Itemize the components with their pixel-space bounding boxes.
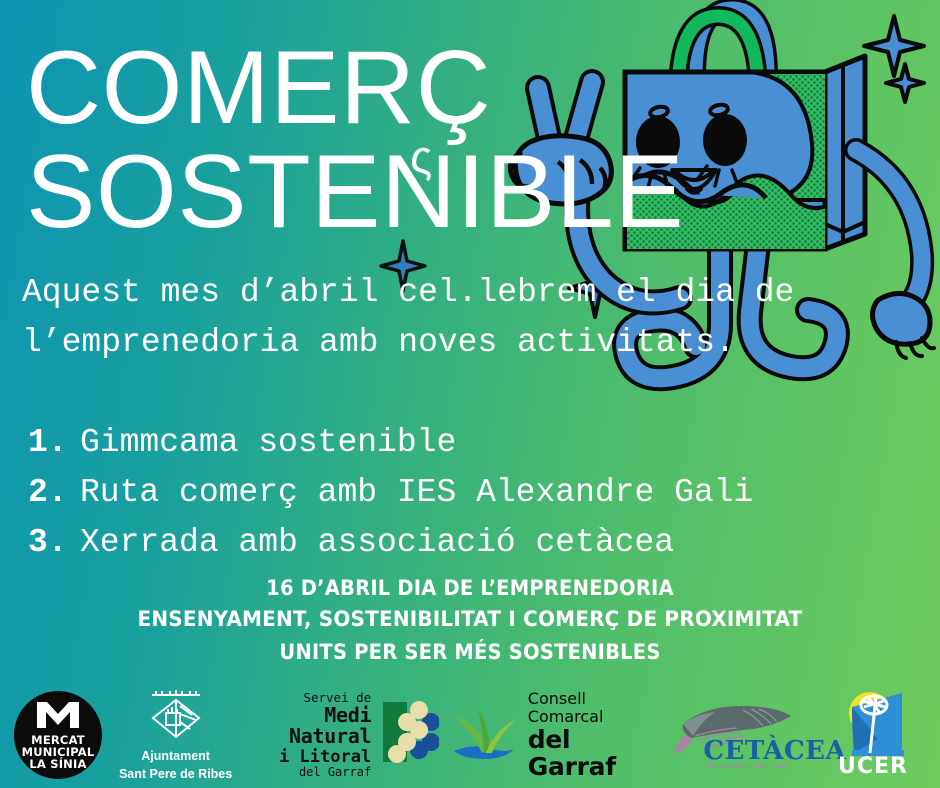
partner-logo-bar: MERCAT MUNICIPAL LA SÍNIA xyxy=(0,682,940,788)
slogan-block: 16 D’ABRIL DIA DE L’EMPRENEDORIA ENSENYA… xyxy=(0,572,940,668)
title-text-sostenible: SOSTENIBLE xyxy=(26,134,684,250)
ucer-wordmark: UCER xyxy=(838,754,908,779)
activities-list: 1. Gimmcama sostenible 2. Ruta comerç am… xyxy=(28,418,908,568)
list-item-number: 1. xyxy=(28,418,80,468)
consell-line-2: del Garraf xyxy=(528,726,663,780)
ajuntament-line-1: Ajuntament xyxy=(141,749,210,764)
list-item-label: Gimmcama sostenible xyxy=(80,418,456,468)
consell-text-block: Consell Comarcal del Garraf xyxy=(528,690,663,780)
logo-ajuntament-sant-pere-de-ribes: Ajuntament Sant Pere de Ribes xyxy=(111,689,241,782)
logo-cetacea: CETÀCEA defensem el medi marí xyxy=(671,692,811,778)
logo-servei-medi-natural-litoral: Servei de Medi Natural i Litoral del Gar… xyxy=(249,691,439,778)
sparkle-star-small-icon xyxy=(884,62,926,104)
ajuntament-line-2: Sant Pere de Ribes xyxy=(119,767,232,782)
logo-consell-comarcal-del-garraf: Consell Comarcal del Garraf xyxy=(448,690,663,780)
medi-line-4: del Garraf xyxy=(249,766,371,779)
cetacea-tagline: defensem el medi marí xyxy=(707,762,789,770)
list-item: 2. Ruta comerç amb IES Alexandre Gali xyxy=(28,468,908,518)
ajuntament-crest-icon xyxy=(144,689,208,746)
list-item-label: Xerrada amb associació cetàcea xyxy=(80,518,674,568)
consell-line-1: Consell Comarcal xyxy=(528,690,663,726)
medi-line-3: i Litoral xyxy=(249,748,371,766)
mercat-line-3: LA SÍNIA xyxy=(29,758,86,770)
medi-text-block: Servei de Medi Natural i Litoral del Gar… xyxy=(249,691,371,778)
logo-mercat-la-sinia: MERCAT MUNICIPAL LA SÍNIA xyxy=(14,691,102,779)
list-item-number: 3. xyxy=(28,518,80,568)
poster-canvas: COMERÇ ς SOSTENIBLE Aquest mes d’abril c… xyxy=(0,0,940,788)
slogan-line-1: 16 D’ABRIL DIA DE L’EMPRENEDORIA xyxy=(33,572,907,604)
page-title-line-1: COMERÇ xyxy=(26,36,491,140)
list-item: 3. Xerrada amb associació cetàcea xyxy=(28,518,908,568)
list-item-label: Ruta comerç amb IES Alexandre Gali xyxy=(80,468,753,518)
slogan-line-3: UNITS PER SER MÉS SOSTENIBLES xyxy=(33,636,907,668)
medi-grapes-icon xyxy=(377,700,439,769)
sparkle-star-icon xyxy=(862,14,926,78)
ucer-sun-boat-icon xyxy=(830,691,916,762)
page-title-line-2: SOSTENIBLE xyxy=(26,140,684,244)
slogan-line-2: ENSENYAMENT, SOSTENIBILITAT I COMERÇ DE … xyxy=(33,604,907,636)
medi-line-2: Medi Natural xyxy=(249,705,371,748)
logo-ucer: UCER xyxy=(820,691,926,779)
lead-paragraph: Aquest mes d’abril cel.lebrem el dia de … xyxy=(22,268,822,368)
list-item: 1. Gimmcama sostenible xyxy=(28,418,908,468)
list-item-number: 2. xyxy=(28,468,80,518)
consell-grass-water-icon xyxy=(448,705,520,766)
title-text-comerc: COMERÇ xyxy=(26,30,491,146)
mercat-monogram-icon xyxy=(35,700,81,733)
